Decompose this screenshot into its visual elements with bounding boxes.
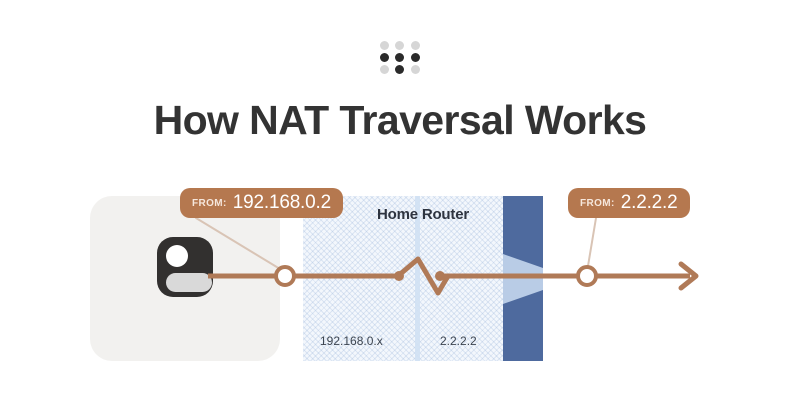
page-title: How NAT Traversal Works bbox=[0, 97, 800, 144]
source-address-badge-lan[interactable]: FROM: 192.168.0.2 bbox=[180, 188, 343, 218]
logo-dot-1-1 bbox=[380, 41, 389, 50]
logo-dot-3-3 bbox=[411, 65, 420, 74]
user-device-icon bbox=[157, 237, 213, 297]
badge-label-wan: FROM: bbox=[580, 198, 615, 209]
device-avatar-head-icon bbox=[166, 245, 188, 267]
logo-dot-1-2 bbox=[395, 41, 404, 50]
dot-grid-logo bbox=[377, 39, 423, 75]
badge-label-lan: FROM: bbox=[192, 198, 227, 209]
router-wan-label: 2.2.2.2 bbox=[440, 334, 477, 348]
source-address-badge-wan[interactable]: FROM: 2.2.2.2 bbox=[568, 188, 690, 218]
device-avatar-body-icon bbox=[166, 273, 212, 292]
logo-dot-1-3 bbox=[411, 41, 420, 50]
nat-wall bbox=[503, 196, 543, 361]
logo-dot-3-2 bbox=[395, 65, 404, 74]
home-router-box: Home Router 192.168.0.x 2.2.2.2 bbox=[303, 196, 543, 361]
badge-value-wan: 2.2.2.2 bbox=[621, 192, 678, 214]
logo-dot-3-1 bbox=[380, 65, 389, 74]
logo-dot-2-2 bbox=[395, 53, 404, 62]
nat-pinhole-icon bbox=[503, 196, 543, 361]
badge-value-lan: 192.168.0.2 bbox=[233, 192, 331, 214]
logo-dot-2-1 bbox=[380, 53, 389, 62]
router-lan-label: 192.168.0.x bbox=[320, 334, 383, 348]
logo-dot-2-3 bbox=[411, 53, 420, 62]
